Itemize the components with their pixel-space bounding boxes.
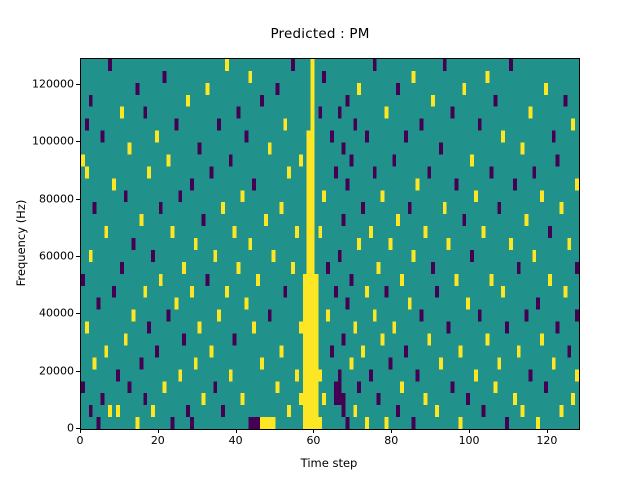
y-tick-mark — [76, 428, 80, 429]
y-tick-label: 80000 — [39, 192, 74, 205]
x-tick-label: 40 — [229, 434, 243, 447]
y-tick-label: 100000 — [32, 135, 74, 148]
x-tick-label: 0 — [77, 434, 84, 447]
matplotlib-figure: Predicted : PM Frequency (Hz) Time step … — [0, 0, 640, 480]
heatmap-plot-area[interactable] — [80, 58, 580, 430]
x-tick-mark — [236, 429, 237, 433]
y-tick-mark — [76, 84, 80, 85]
x-tick-label: 100 — [459, 434, 480, 447]
x-tick-label: 80 — [384, 434, 398, 447]
y-tick-mark — [76, 371, 80, 372]
x-axis-label: Time step — [80, 456, 578, 470]
y-tick-label: 60000 — [39, 249, 74, 262]
y-tick-mark — [76, 256, 80, 257]
y-tick-label: 120000 — [32, 77, 74, 90]
y-tick-mark — [76, 313, 80, 314]
heatmap-image — [81, 59, 579, 429]
y-tick-mark — [76, 199, 80, 200]
x-tick-mark — [391, 429, 392, 433]
y-tick-label: 0 — [67, 422, 74, 435]
y-tick-label: 40000 — [39, 307, 74, 320]
x-tick-mark — [547, 429, 548, 433]
x-tick-label: 20 — [151, 434, 165, 447]
x-tick-mark — [80, 429, 81, 433]
x-tick-label: 60 — [306, 434, 320, 447]
y-tick-mark — [76, 141, 80, 142]
x-tick-mark — [158, 429, 159, 433]
page-title: Predicted : PM — [0, 26, 640, 42]
y-tick-label: 20000 — [39, 364, 74, 377]
x-tick-label: 120 — [536, 434, 557, 447]
x-tick-mark — [469, 429, 470, 433]
y-axis-label: Frequency (Hz) — [14, 58, 30, 428]
x-tick-mark — [313, 429, 314, 433]
